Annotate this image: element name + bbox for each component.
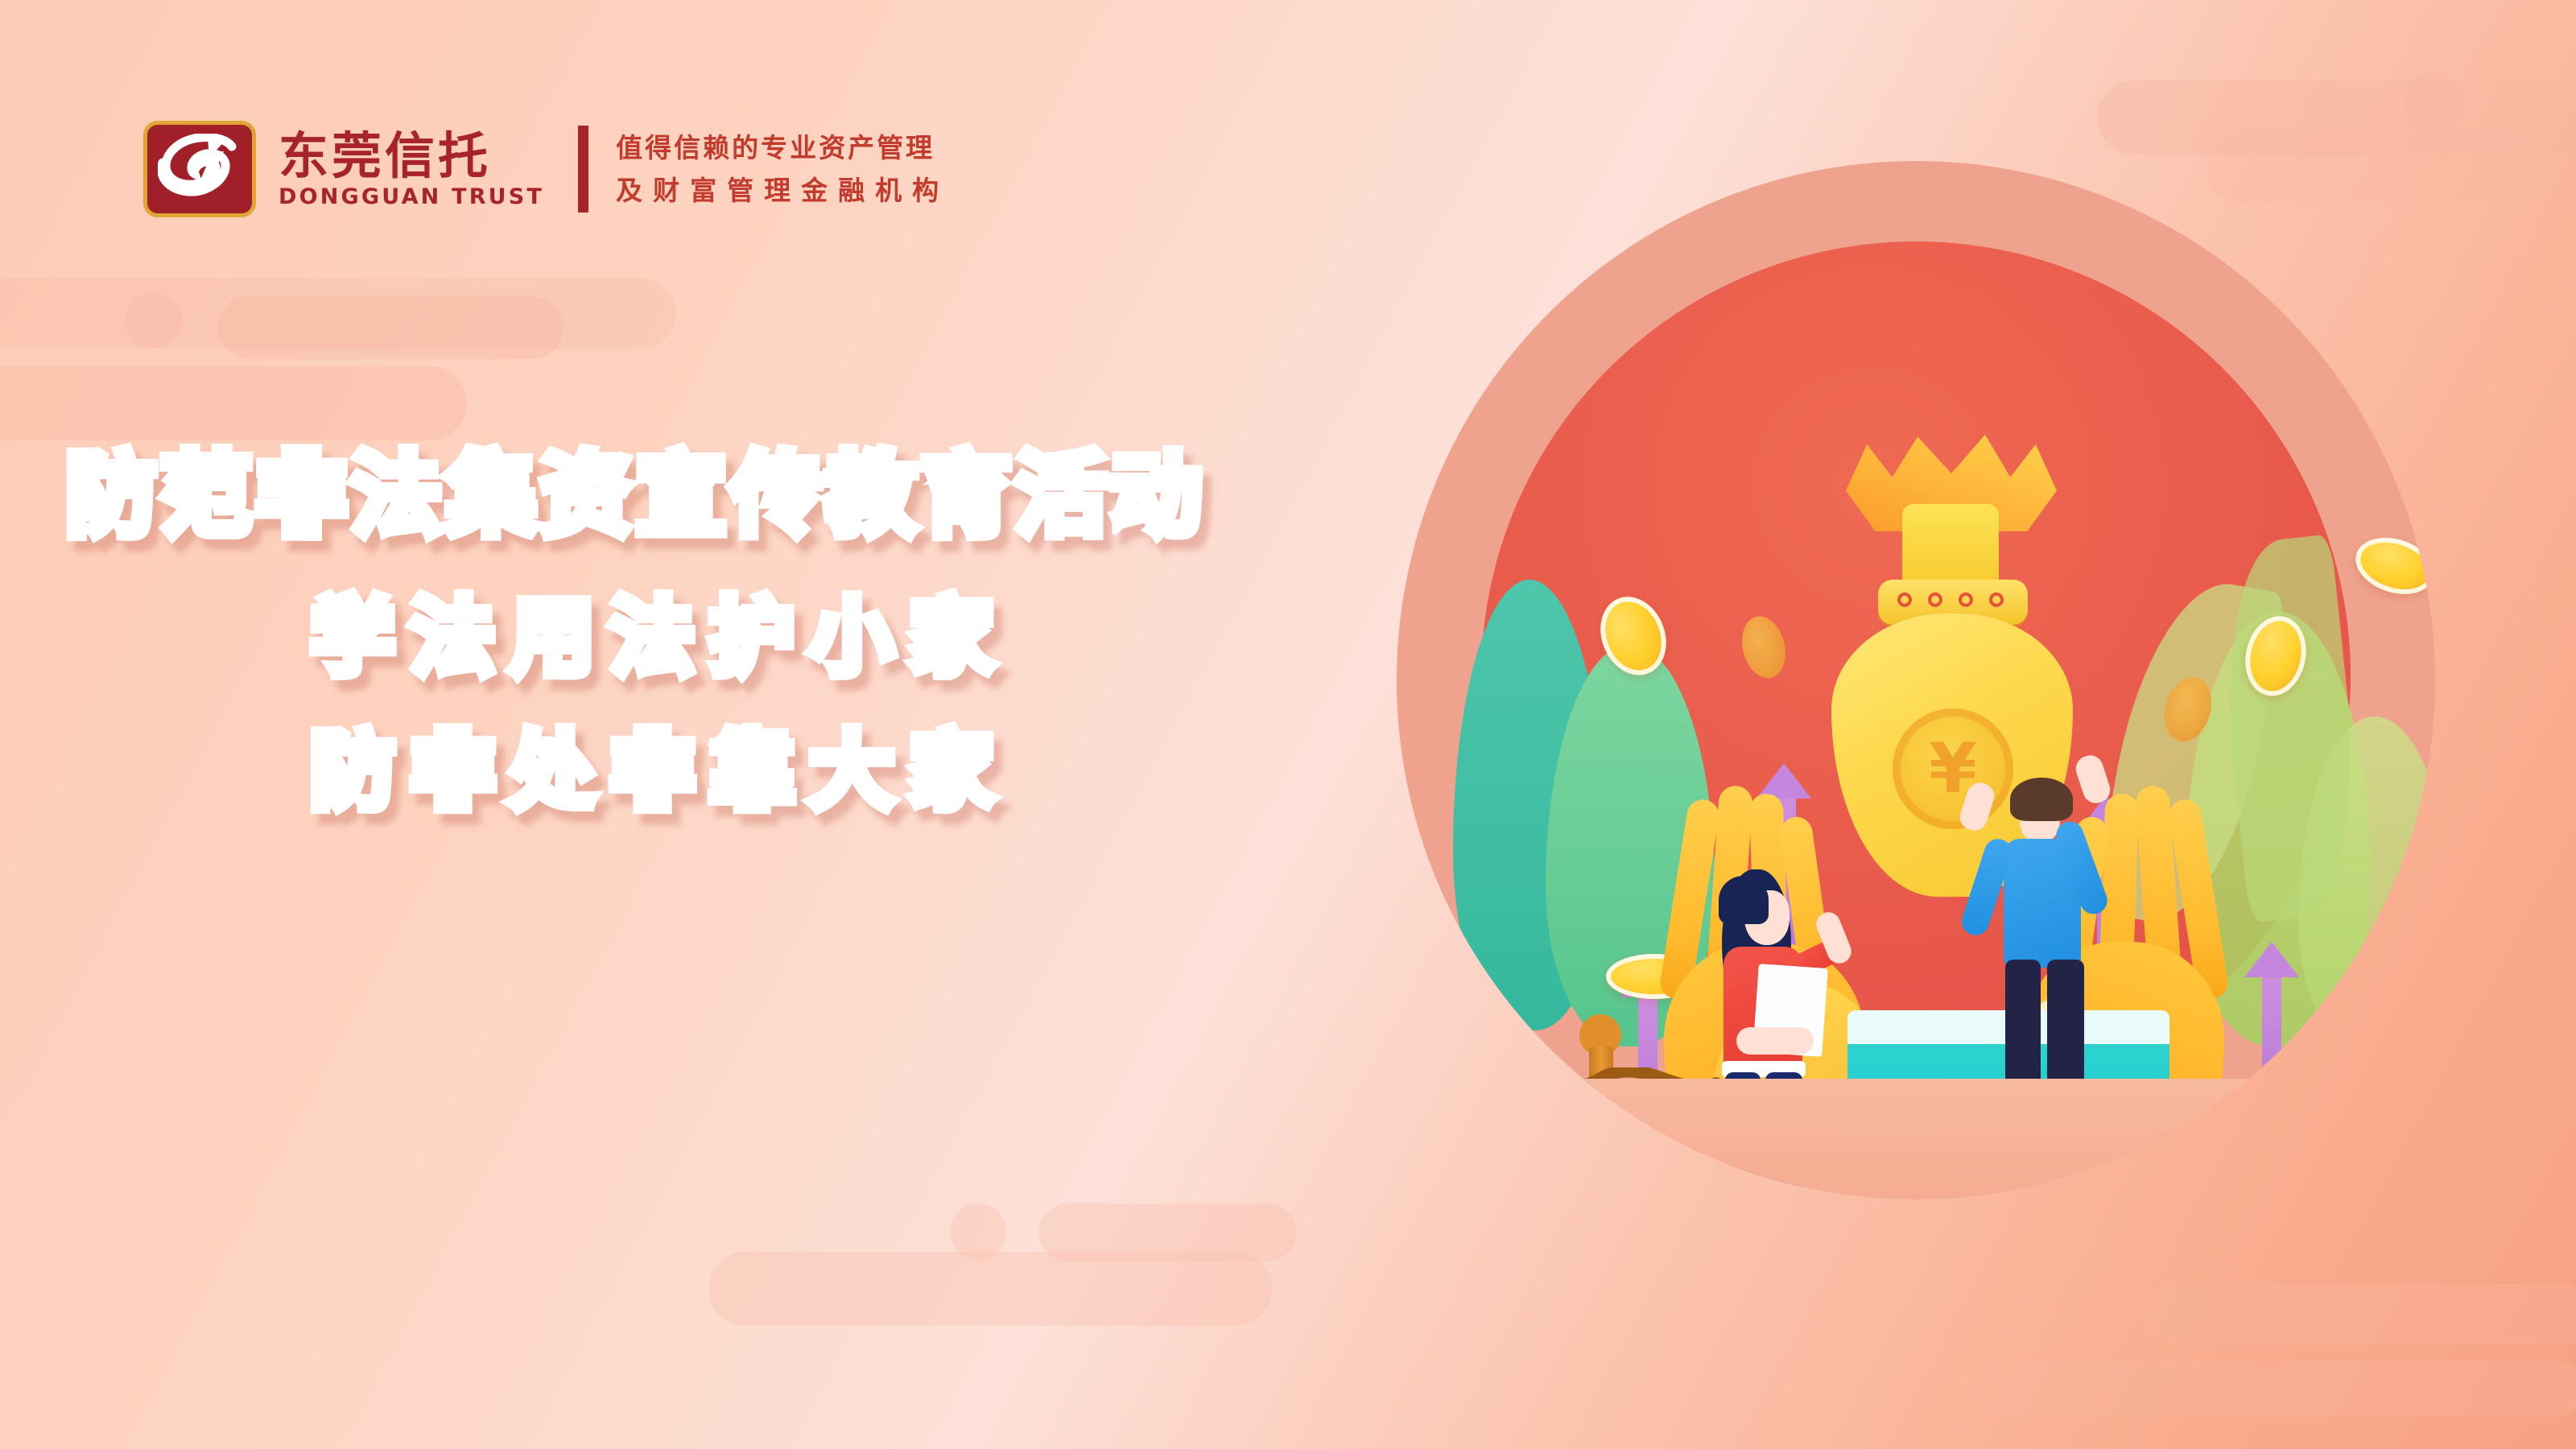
headline-line-1: 防范非法集资宣传教育活动 xyxy=(66,451,1206,541)
headline-block: 防范非法集资宣传教育活动 学法用法护小家 防非处非靠大家 xyxy=(0,451,1320,813)
headline-line-2: 学法用法护小家 xyxy=(311,596,1009,679)
tagline-line-2: 及财富管理金融机构 xyxy=(616,177,949,204)
ground xyxy=(1397,1079,2435,1199)
tagline: 值得信赖的专业资产管理 及财富管理金融机构 xyxy=(616,134,949,204)
deco-pill xyxy=(708,1252,1272,1326)
brand-name-en: DONGGUAN TRUST xyxy=(279,186,544,208)
deco-pill xyxy=(0,366,467,440)
deco-pill xyxy=(950,1203,1006,1260)
divider xyxy=(578,126,588,213)
headline-line-3: 防非处非靠大家 xyxy=(311,729,1009,813)
banner: ¥ xyxy=(0,0,2576,1449)
growth-arrow-icon xyxy=(2244,942,2299,977)
deco-pill xyxy=(217,296,563,359)
brand-name-block: 东莞信托 DONGGUAN TRUST xyxy=(279,131,544,208)
deco-pill xyxy=(1038,1203,1296,1261)
deco-pill xyxy=(1972,1360,2576,1417)
brand-name-cn: 东莞信托 xyxy=(279,131,544,181)
coin-icon xyxy=(1736,612,1791,683)
coin-icon xyxy=(2348,528,2435,604)
deco-pill xyxy=(125,294,183,347)
tagline-line-1: 值得信赖的专业资产管理 xyxy=(616,134,949,161)
illustration: ¥ xyxy=(1320,0,2576,1304)
brand-lockup: 东莞信托 DONGGUAN TRUST 值得信赖的专业资产管理 及财富管理金融机… xyxy=(143,121,949,217)
illustration-clip: ¥ xyxy=(1397,161,2435,1199)
dongguan-trust-swoosh-logo-icon xyxy=(143,121,256,217)
